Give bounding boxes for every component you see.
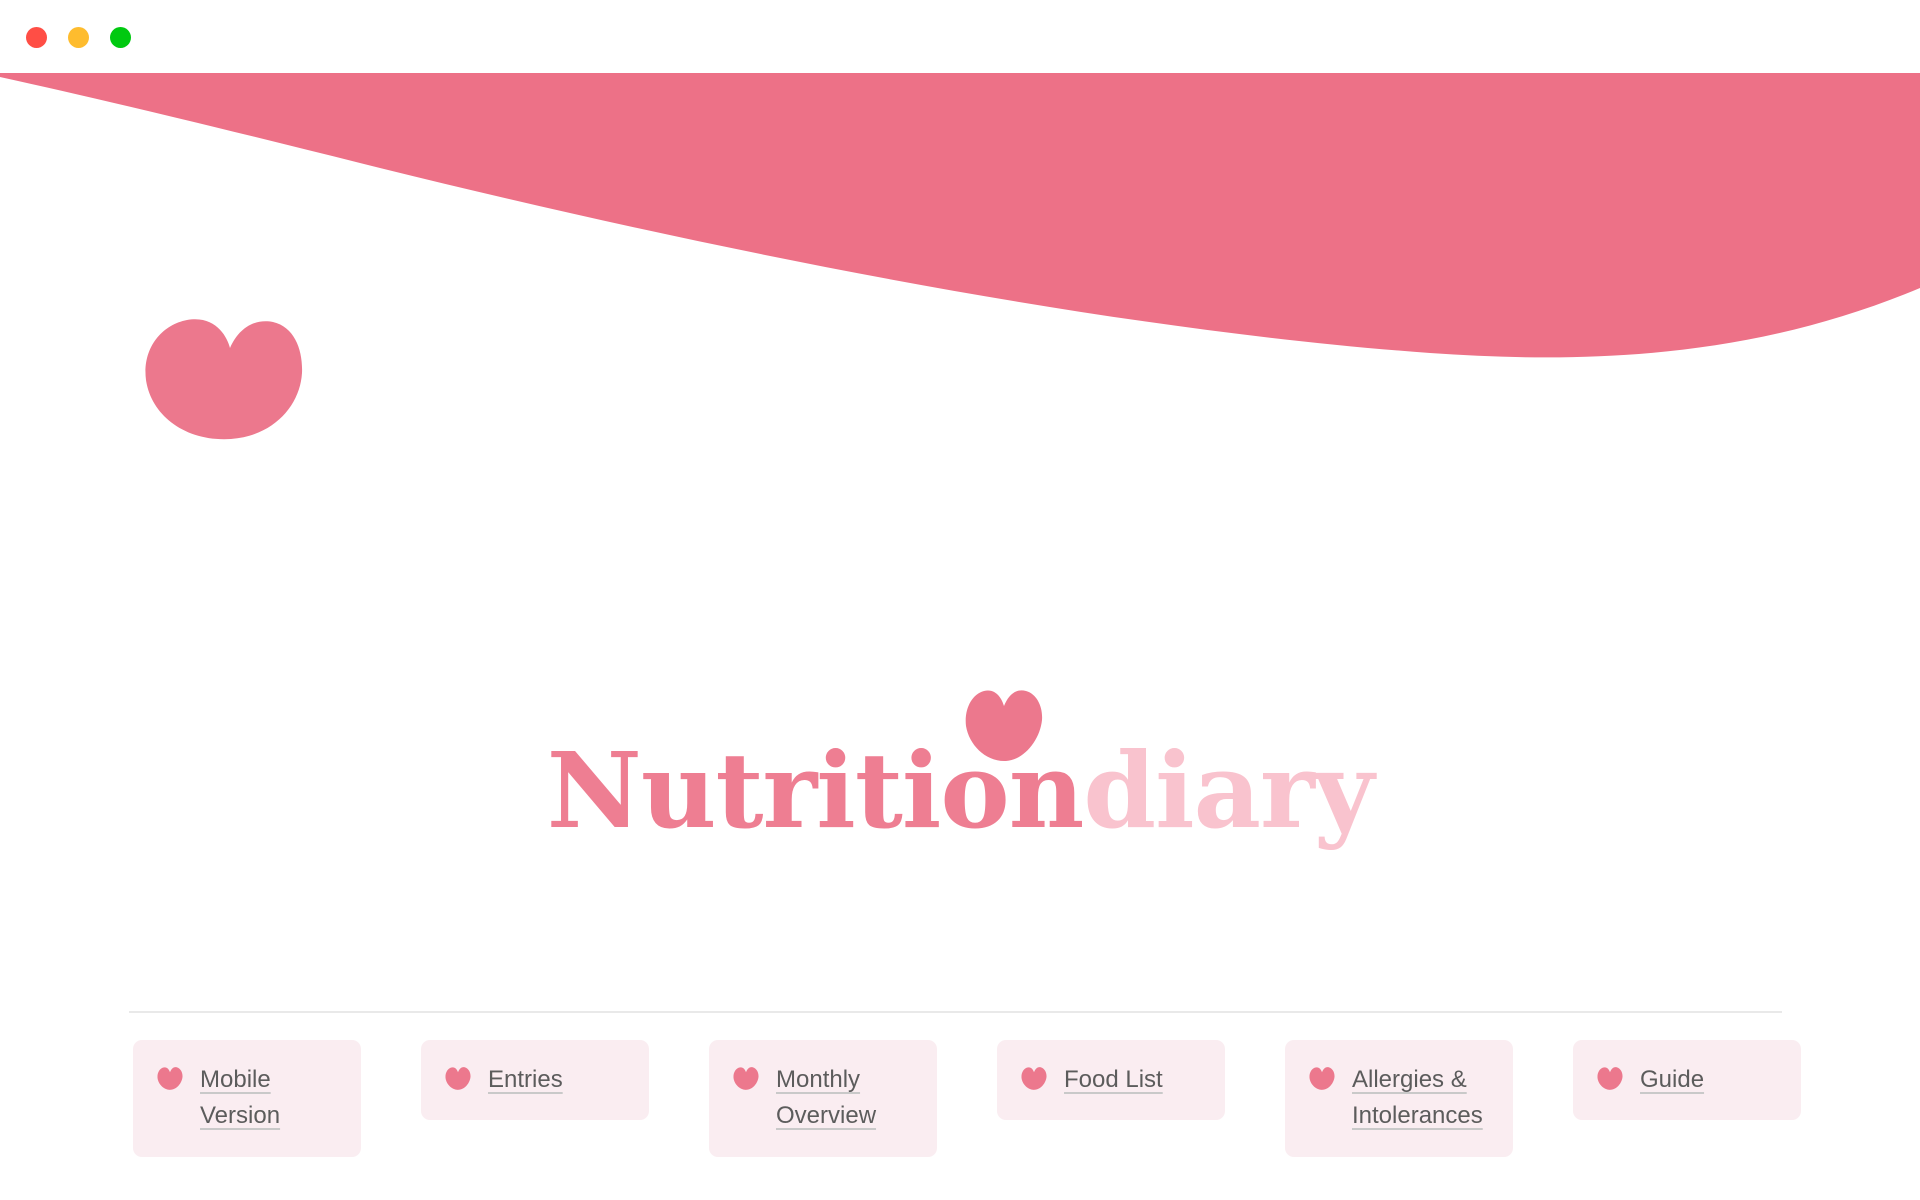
nav-card-label: Mobile Version xyxy=(200,1062,280,1135)
heart-icon xyxy=(157,1067,183,1090)
logo-word-primary: Nutrition xyxy=(547,729,1084,852)
logo-wordmark: Nutritiondiary xyxy=(547,736,1373,845)
window-controls xyxy=(26,27,131,48)
nav-card-label: Monthly Overview xyxy=(776,1062,876,1135)
maximize-window-button[interactable] xyxy=(110,27,131,48)
minimize-window-button[interactable] xyxy=(68,27,89,48)
nav-card-label: Entries xyxy=(488,1062,563,1098)
nav-card-guide[interactable]: Guide xyxy=(1573,1040,1801,1120)
nav-card-label: Allergies & Intolerances xyxy=(1352,1062,1483,1135)
heart-icon xyxy=(1597,1067,1623,1090)
nav-card-food-list[interactable]: Food List xyxy=(997,1040,1225,1120)
nav-card-label: Food List xyxy=(1064,1062,1163,1098)
nav-card-entries[interactable]: Entries xyxy=(421,1040,649,1120)
heart-icon xyxy=(445,1067,471,1090)
decorative-heart-icon xyxy=(145,318,303,440)
nav-card-monthly-overview[interactable]: Monthly Overview xyxy=(709,1040,937,1157)
navigation-cards: Mobile Version Entries Monthly Overview xyxy=(133,1040,1793,1170)
nav-card-mobile-version[interactable]: Mobile Version xyxy=(133,1040,361,1157)
app-window: Nutritiondiary Mobile Version Entries xyxy=(0,0,1920,1200)
logo-word-secondary: diary xyxy=(1083,729,1373,852)
heart-icon xyxy=(733,1067,759,1090)
section-divider xyxy=(129,1011,1782,1013)
nav-card-allergies-intolerances[interactable]: Allergies & Intolerances xyxy=(1285,1040,1513,1157)
close-window-button[interactable] xyxy=(26,27,47,48)
heart-icon xyxy=(1021,1067,1047,1090)
app-logo: Nutritiondiary xyxy=(0,690,1920,845)
heart-icon xyxy=(1309,1067,1335,1090)
nav-card-label: Guide xyxy=(1640,1062,1704,1098)
window-titlebar xyxy=(0,0,1920,73)
